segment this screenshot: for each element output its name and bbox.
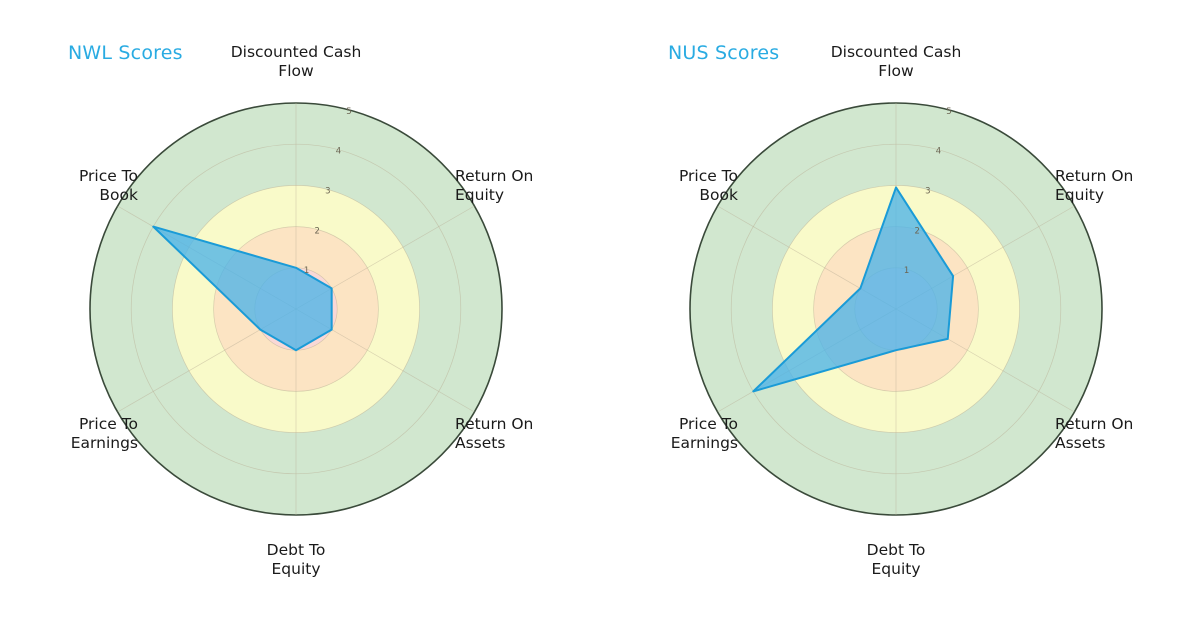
radial-tick-label-4: 4 [936, 147, 941, 157]
radial-tick-label-1: 1 [304, 266, 309, 276]
radar-plot-nus: 12345 [600, 0, 1200, 625]
radial-tick-label-5: 5 [946, 107, 951, 117]
radial-tick-label-2: 2 [314, 226, 319, 236]
radial-tick-label-2: 2 [914, 226, 919, 236]
radar-chart-figure: NWL Scores 12345 Discounted Cash Flow Re… [0, 0, 1200, 625]
radial-tick-label-4: 4 [336, 147, 341, 157]
radial-tick-label-3: 3 [325, 187, 330, 197]
chart-panel-nwl: NWL Scores 12345 Discounted Cash Flow Re… [0, 0, 600, 625]
radar-plot-nwl: 12345 [0, 0, 600, 625]
radial-tick-label-1: 1 [904, 266, 909, 276]
radial-tick-label-5: 5 [346, 107, 351, 117]
radial-tick-label-3: 3 [925, 187, 930, 197]
chart-panel-nus: NUS Scores 12345 Discounted Cash Flow Re… [600, 0, 1200, 625]
